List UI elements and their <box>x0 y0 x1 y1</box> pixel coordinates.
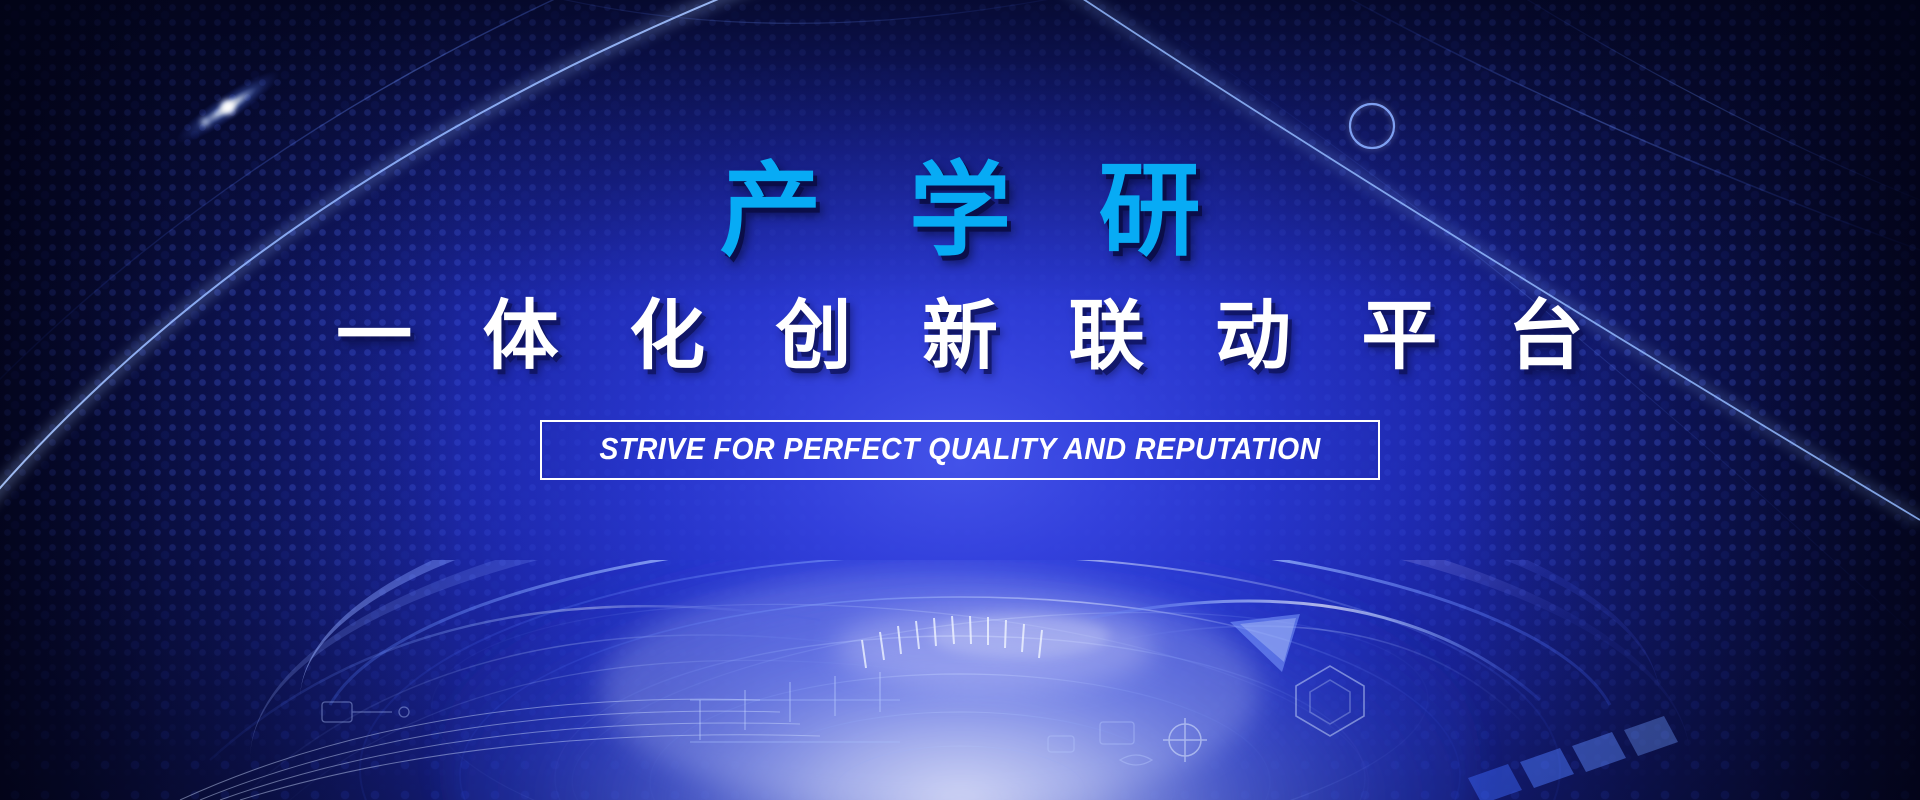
english-tagline-wrapper: STRIVE FOR PERFECT QUALITY AND REPUTATIO… <box>0 420 1920 480</box>
data-bars <box>1468 716 1678 800</box>
page-subtitle: 一 体 化 创 新 联 动 平 台 <box>0 294 1920 378</box>
tech-banner: 产 学 研 一 体 化 创 新 联 动 平 台 STRIVE FOR PERFE… <box>0 0 1920 800</box>
english-tagline: STRIVE FOR PERFECT QUALITY AND REPUTATIO… <box>599 431 1320 467</box>
banner-content: 产 学 研 一 体 化 创 新 联 动 平 台 STRIVE FOR PERFE… <box>0 0 1920 480</box>
english-tagline-box: STRIVE FOR PERFECT QUALITY AND REPUTATIO… <box>540 420 1380 480</box>
page-title: 产 学 研 <box>0 158 1920 266</box>
